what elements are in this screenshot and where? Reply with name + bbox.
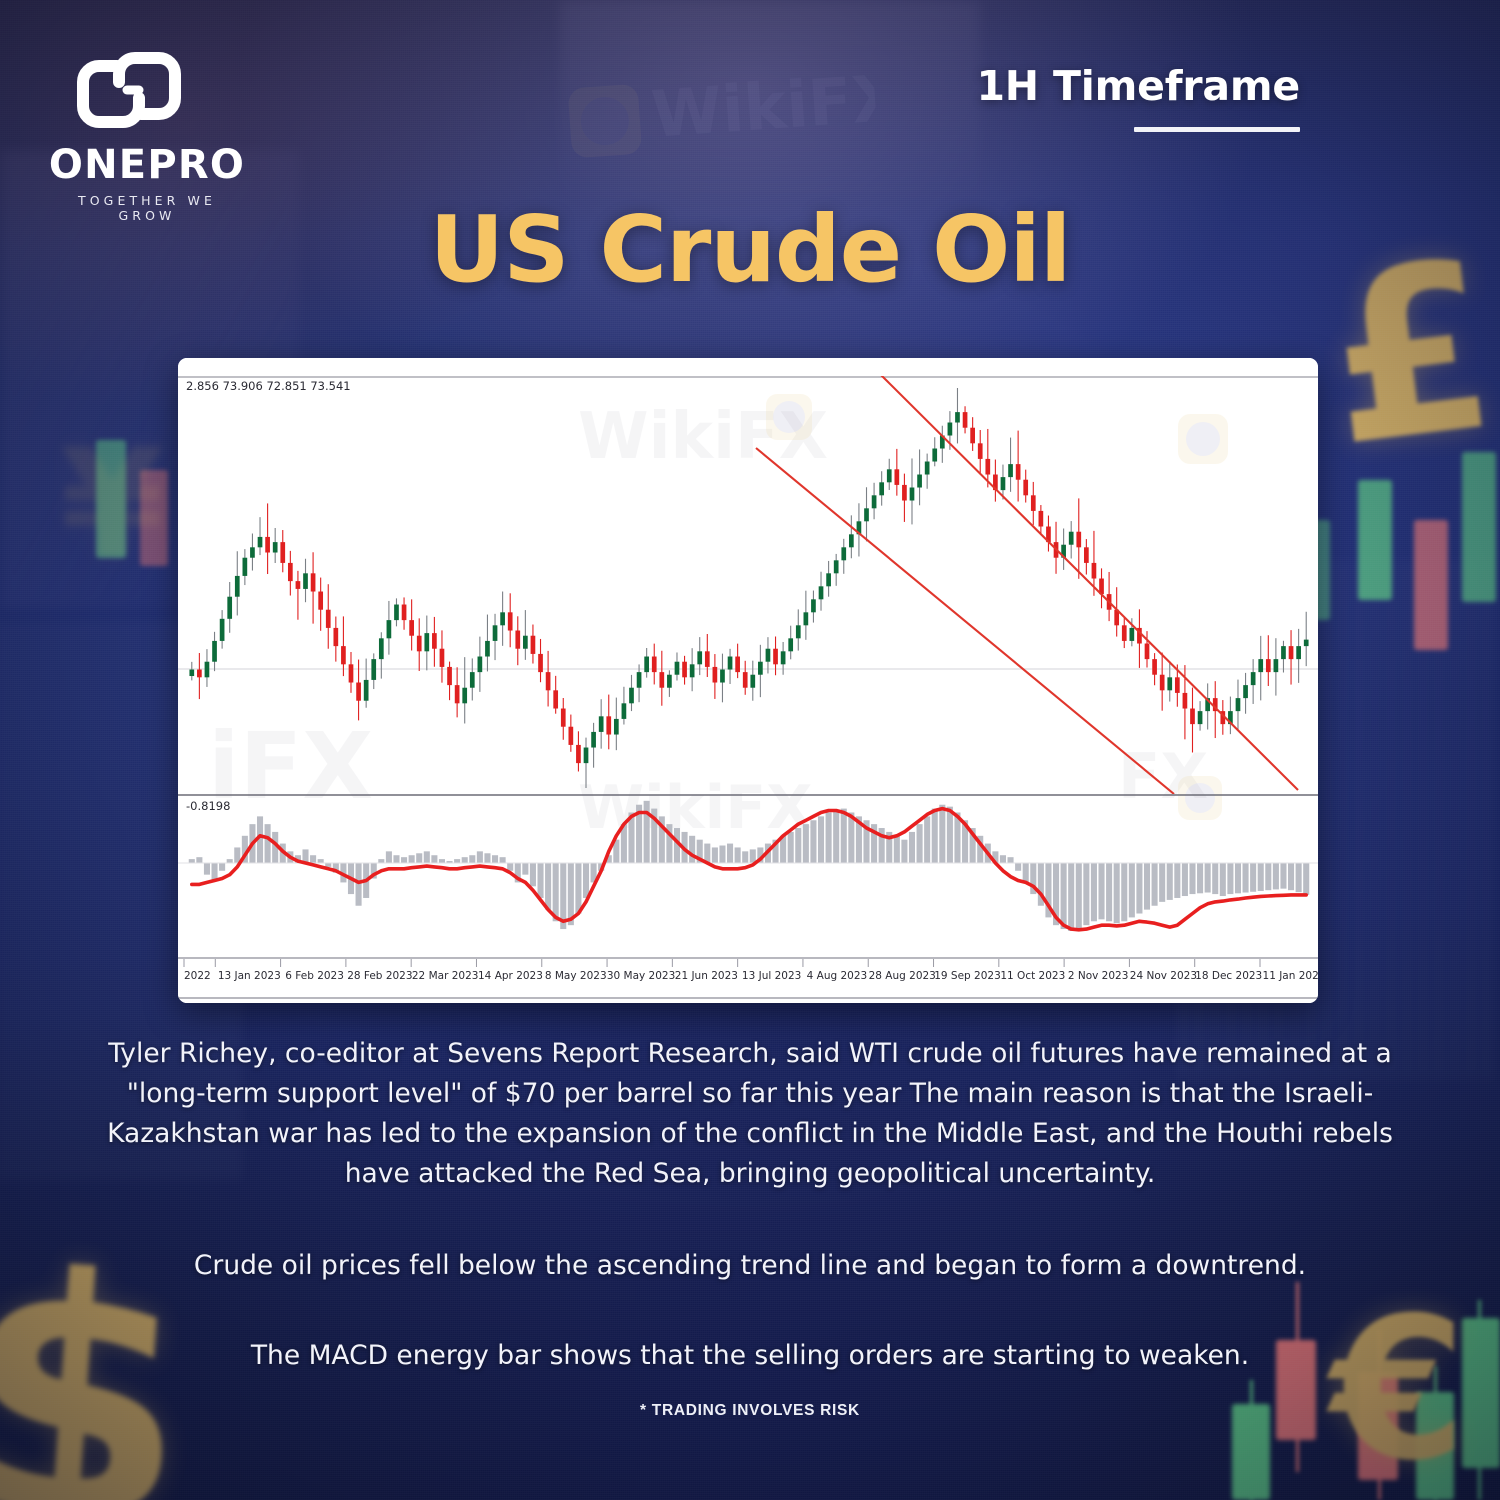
svg-text:24 Nov 2023: 24 Nov 2023 xyxy=(1130,970,1197,982)
interlocking-squares-icon xyxy=(69,44,189,136)
svg-text:13 Jul 2023: 13 Jul 2023 xyxy=(742,970,801,982)
svg-text:6 Feb 2023: 6 Feb 2023 xyxy=(285,970,344,982)
body-copy: Tyler Richey, co-editor at Sevens Report… xyxy=(78,1034,1422,1376)
svg-text:30 May 2023: 30 May 2023 xyxy=(607,970,675,982)
svg-text:22 Mar 2023: 22 Mar 2023 xyxy=(412,970,479,982)
paragraph-2: Crude oil prices fell below the ascendin… xyxy=(78,1246,1422,1286)
svg-text:11 Oct 2023: 11 Oct 2023 xyxy=(1000,970,1065,982)
svg-text:28 Aug 2023: 28 Aug 2023 xyxy=(869,970,936,982)
svg-text:2022: 2022 xyxy=(184,970,211,982)
price-chart[interactable]: iFX WikiFX WikiFX FX 2.856 73.906 72.851… xyxy=(178,358,1318,1003)
svg-text:19 Sep 2023: 19 Sep 2023 xyxy=(934,970,1001,982)
header: ONEPRO TOGETHER WE GROW 1H Timeframe US … xyxy=(0,0,1500,330)
svg-text:13 Jan 2023: 13 Jan 2023 xyxy=(218,970,281,982)
svg-text:iFX: iFX xyxy=(208,713,373,820)
svg-text:21 Jun 2023: 21 Jun 2023 xyxy=(675,970,738,982)
risk-disclaimer: * TRADING INVOLVES RISK xyxy=(0,1402,1500,1420)
paragraph-1: Tyler Richey, co-editor at Sevens Report… xyxy=(78,1034,1422,1194)
macd-readout: -0.8198 xyxy=(186,799,230,813)
timeframe-label: 1H Timeframe xyxy=(976,62,1300,110)
timeframe-block: 1H Timeframe xyxy=(976,62,1300,132)
page-title: US Crude Oil xyxy=(0,196,1500,303)
svg-text:4 Aug 2023: 4 Aug 2023 xyxy=(807,970,868,982)
timeframe-underline xyxy=(1134,127,1300,132)
svg-text:18 Dec 2023: 18 Dec 2023 xyxy=(1195,970,1262,982)
ohlc-readout: 2.856 73.906 72.851 73.541 xyxy=(186,379,351,393)
svg-text:2 Nov 2023: 2 Nov 2023 xyxy=(1068,970,1129,982)
brand-name: ONEPRO xyxy=(47,142,247,188)
svg-text:11 Jan 2024: 11 Jan 2024 xyxy=(1263,970,1318,982)
chart-card[interactable]: iFX WikiFX WikiFX FX 2.856 73.906 72.851… xyxy=(178,358,1318,1003)
paragraph-3: The MACD energy bar shows that the selli… xyxy=(78,1336,1422,1376)
svg-text:8 May 2023: 8 May 2023 xyxy=(545,970,607,982)
svg-text:WikiFX: WikiFX xyxy=(578,773,812,843)
svg-text:28 Feb 2023: 28 Feb 2023 xyxy=(347,970,412,982)
svg-text:14 Apr 2023: 14 Apr 2023 xyxy=(478,970,543,982)
